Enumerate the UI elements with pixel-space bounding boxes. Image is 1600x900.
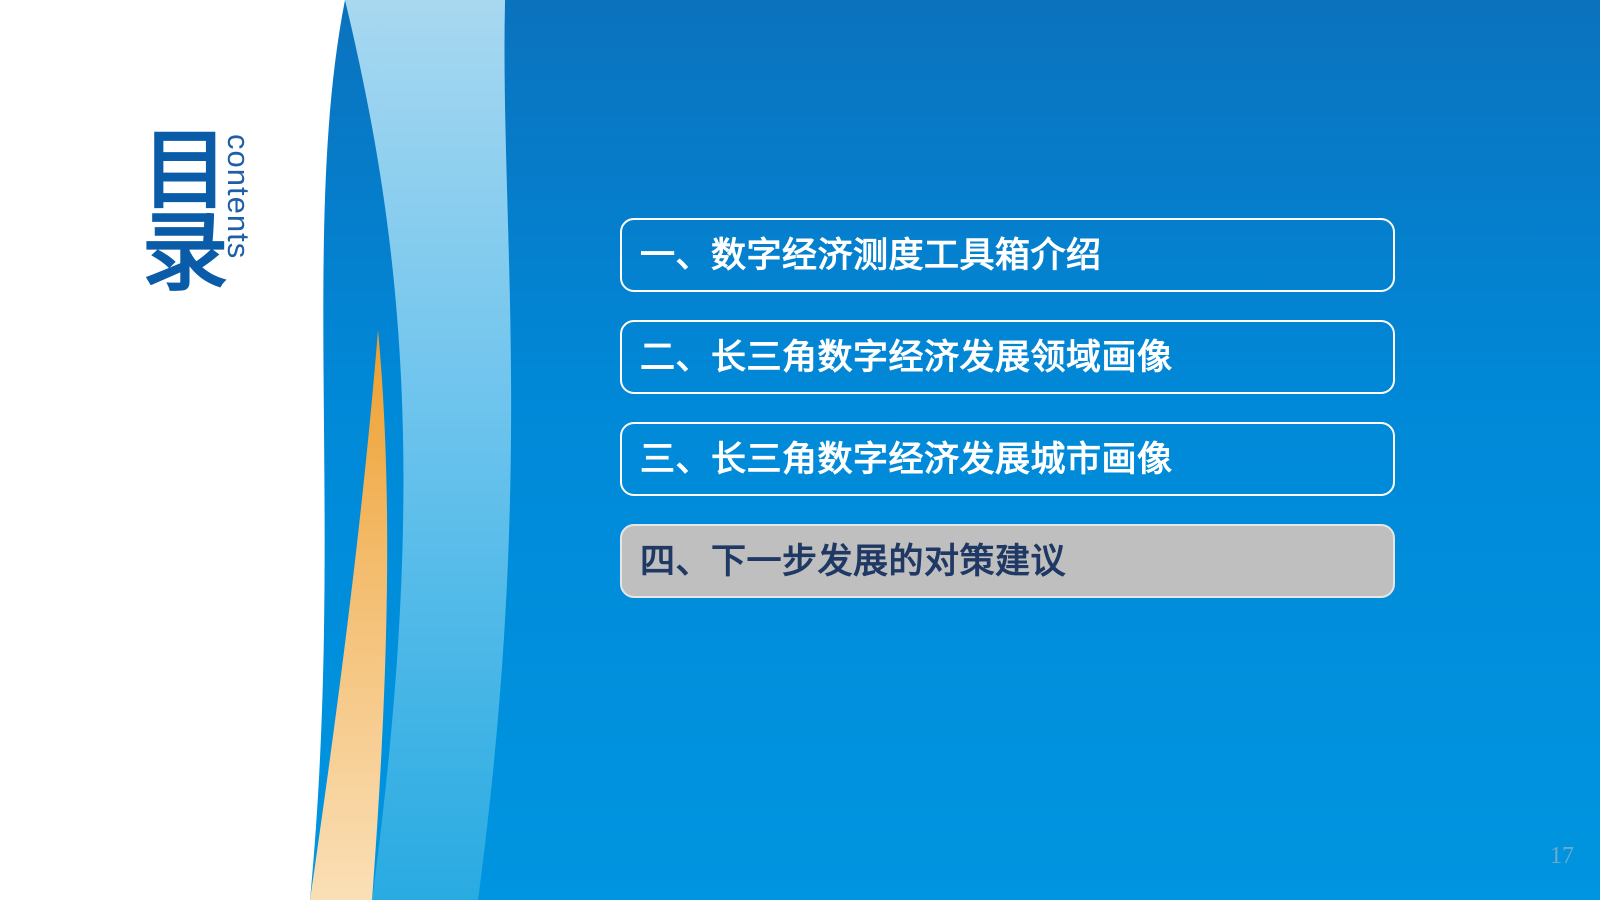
agenda-item-3-label: 三、长三角数字经济发展城市画像: [640, 442, 1173, 477]
agenda-item-4-active[interactable]: 四、下一步发展的对策建议: [620, 524, 1395, 598]
agenda-item-1[interactable]: 一、数字经济测度工具箱介绍: [620, 218, 1395, 292]
agenda-item-3[interactable]: 三、长三角数字经济发展城市画像: [620, 422, 1395, 496]
page-number: 17: [1550, 843, 1574, 870]
page-subtitle-contents: contents: [223, 134, 254, 259]
agenda-list: 一、数字经济测度工具箱介绍 二、长三角数字经济发展领域画像 三、长三角数字经济发…: [620, 218, 1395, 626]
toc-title-block: 目 录 contents: [120, 130, 350, 350]
presentation-slide: 目 录 contents 一、数字经济测度工具箱介绍 二、长三角数字经济发展领域…: [0, 0, 1600, 900]
agenda-item-1-label: 一、数字经济测度工具箱介绍: [640, 238, 1102, 273]
agenda-item-2-label: 二、长三角数字经济发展领域画像: [640, 340, 1173, 375]
agenda-item-2[interactable]: 二、长三角数字经济发展领域画像: [620, 320, 1395, 394]
agenda-item-4-label: 四、下一步发展的对策建议: [640, 544, 1066, 579]
